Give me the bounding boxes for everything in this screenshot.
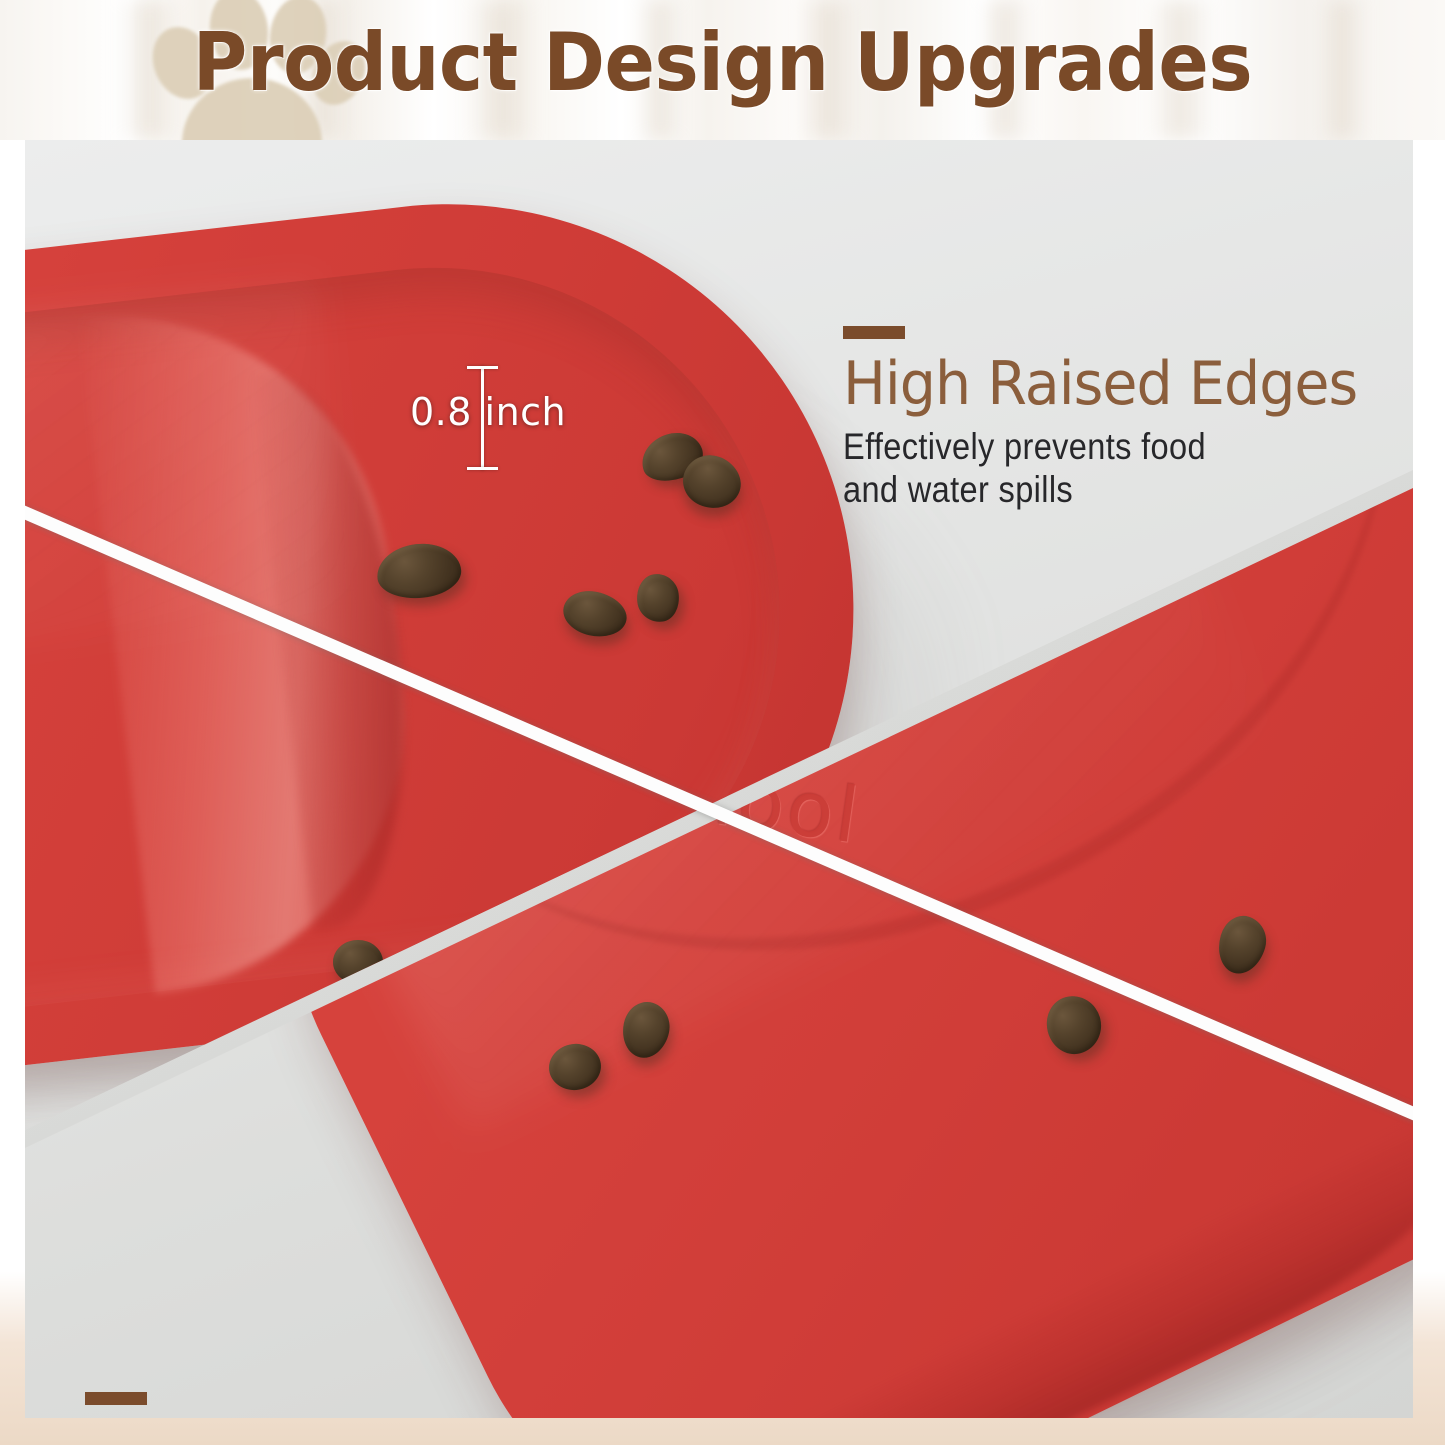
dimension-label: 0.8 inch bbox=[410, 390, 566, 434]
dimension-cap-top bbox=[467, 366, 498, 369]
feature-block-high-raised-edges: High Raised Edges Effectively prevents f… bbox=[843, 326, 1413, 512]
page-title: Product Design Upgrades bbox=[51, 16, 1395, 109]
product-photo-panel: 0.8 inch smilool High Raised Edges Effec… bbox=[25, 140, 1413, 1418]
accent-tick-top bbox=[843, 326, 905, 339]
accent-tick-bottom bbox=[85, 1392, 147, 1405]
header-banner: Product Design Upgrades bbox=[0, 0, 1445, 140]
feature-sub-line2: and water spills bbox=[843, 468, 1371, 512]
feature-block-keeping-floor-clean: Keeping the floor clean Minimizes time s… bbox=[85, 1392, 1305, 1418]
infographic-canvas: Product Design Upgrades 0.8 inch bbox=[0, 0, 1445, 1445]
feature-sub-line1: Effectively prevents food bbox=[843, 425, 1371, 469]
feature-heading-high-raised-edges: High Raised Edges bbox=[843, 353, 1413, 417]
dimension-annotation: 0.8 inch bbox=[457, 362, 647, 474]
kibble-piece bbox=[333, 940, 383, 984]
feature-subheading-high-raised-edges: Effectively prevents food and water spil… bbox=[843, 425, 1371, 512]
dimension-cap-bottom bbox=[467, 467, 498, 470]
